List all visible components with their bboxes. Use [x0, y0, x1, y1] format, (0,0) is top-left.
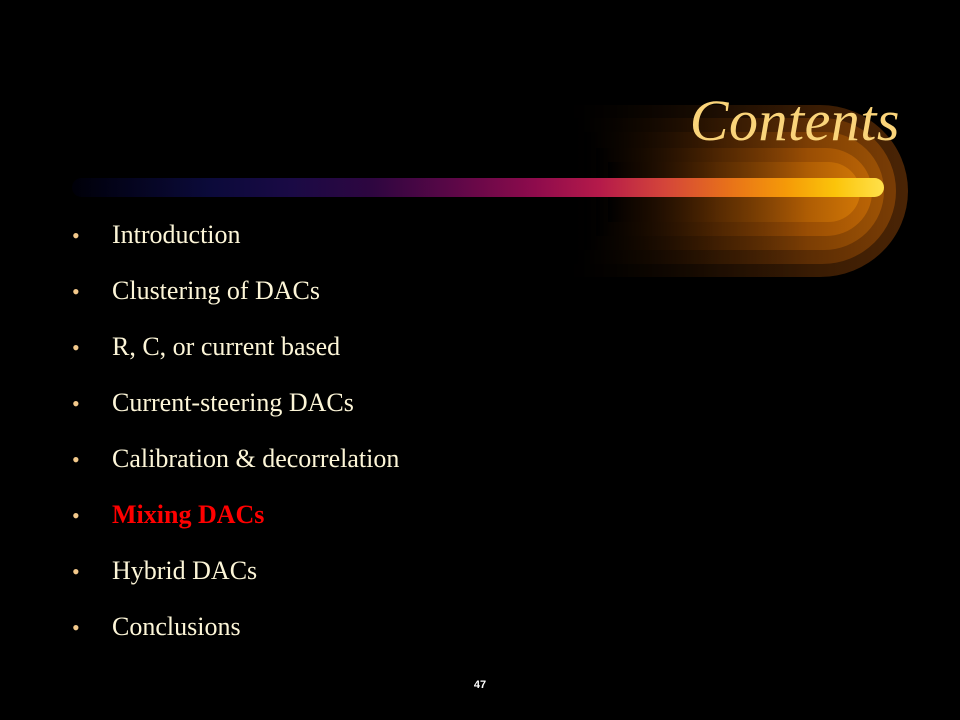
- bullet-icon: •: [72, 281, 112, 303]
- list-item-label: Conclusions: [112, 612, 241, 642]
- list-item-label: Calibration & decorrelation: [112, 444, 399, 474]
- list-item-label: Introduction: [112, 220, 241, 250]
- list-item[interactable]: • Hybrid DACs: [72, 556, 892, 612]
- bullet-icon: •: [72, 617, 112, 639]
- list-item-label: Mixing DACs: [112, 500, 264, 530]
- bullet-icon: •: [72, 393, 112, 415]
- slide-canvas: Contents • Introduction • Clustering of …: [0, 0, 960, 720]
- slide-number: 47: [0, 679, 960, 691]
- list-item[interactable]: • Introduction: [72, 220, 892, 276]
- bullet-icon: •: [72, 561, 112, 583]
- page-title: Contents: [600, 92, 900, 150]
- list-item-label: R, C, or current based: [112, 332, 340, 362]
- list-item[interactable]: • Conclusions: [72, 612, 892, 668]
- bullet-icon: •: [72, 505, 112, 527]
- list-item[interactable]: • Current-steering DACs: [72, 388, 892, 444]
- halo-layer-5: [608, 162, 860, 222]
- spectrum-bar: [72, 178, 884, 197]
- list-item[interactable]: • Clustering of DACs: [72, 276, 892, 332]
- list-item-label: Hybrid DACs: [112, 556, 257, 586]
- list-item-label: Current-steering DACs: [112, 388, 354, 418]
- list-item[interactable]: • R, C, or current based: [72, 332, 892, 388]
- bullet-icon: •: [72, 225, 112, 247]
- contents-list: • Introduction • Clustering of DACs • R,…: [72, 220, 892, 668]
- bullet-icon: •: [72, 337, 112, 359]
- bullet-icon: •: [72, 449, 112, 471]
- list-item[interactable]: • Calibration & decorrelation: [72, 444, 892, 500]
- list-item-current-section[interactable]: • Mixing DACs: [72, 500, 892, 556]
- list-item-label: Clustering of DACs: [112, 276, 320, 306]
